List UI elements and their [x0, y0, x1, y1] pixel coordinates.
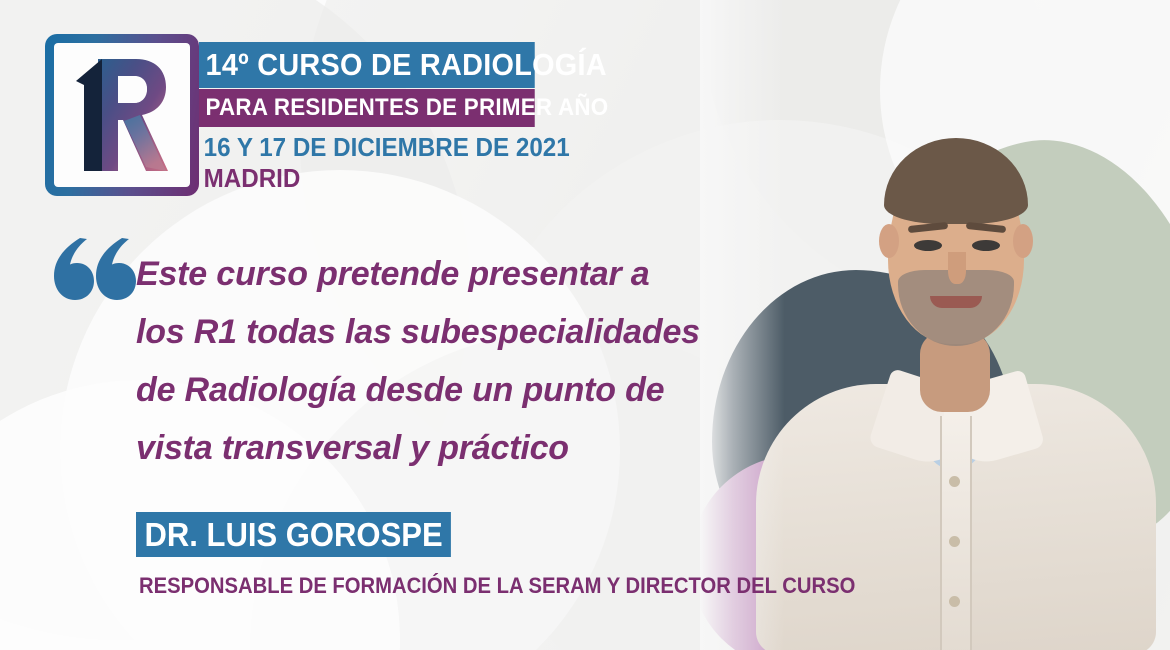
quote-line: vista transversal y práctico [136, 419, 836, 477]
portrait-nose [948, 252, 966, 284]
quote-line: los R1 todas las subespecialidades [136, 303, 836, 361]
quote-line: de Radiología desde un punto de [136, 361, 836, 419]
portrait-shirt-button [949, 536, 960, 547]
portrait-ear-right [1013, 224, 1033, 258]
speaker-role: RESPONSABLE DE FORMACIÓN DE LA SERAM Y D… [139, 572, 855, 600]
course-subtitle-bar: PARA RESIDENTES DE PRIMER AÑO [199, 89, 535, 127]
course-title-bar: 14º CURSO DE RADIOLOGÍA [199, 42, 535, 88]
speaker-name-badge: DR. LUIS GOROSPE [136, 512, 451, 557]
quote-text: Este curso pretende presentar a los R1 t… [136, 245, 836, 477]
course-logo-inner [54, 43, 190, 187]
course-dates: 16 Y 17 DE DICIEMBRE DE 2021 [199, 132, 515, 163]
quote-line: Este curso pretende presentar a [136, 245, 836, 303]
poster-canvas: 14º CURSO DE RADIOLOGÍA PARA RESIDENTES … [0, 0, 1170, 650]
portrait-eye-right [972, 240, 1000, 251]
course-header: 14º CURSO DE RADIOLOGÍA PARA RESIDENTES … [199, 42, 539, 193]
portrait-shirt-button [949, 476, 960, 487]
portrait-shirt-button [949, 596, 960, 607]
course-logo [45, 34, 199, 196]
course-city: MADRID [199, 163, 515, 193]
r1-monogram-icon [54, 43, 190, 187]
portrait-eye-left [914, 240, 942, 251]
open-quote-icon [44, 232, 136, 308]
portrait-mouth [930, 296, 982, 308]
open-quote-glyph [44, 232, 136, 308]
portrait-ear-left [879, 224, 899, 258]
portrait-shirt-placket [940, 416, 972, 650]
portrait-hair [884, 138, 1028, 224]
